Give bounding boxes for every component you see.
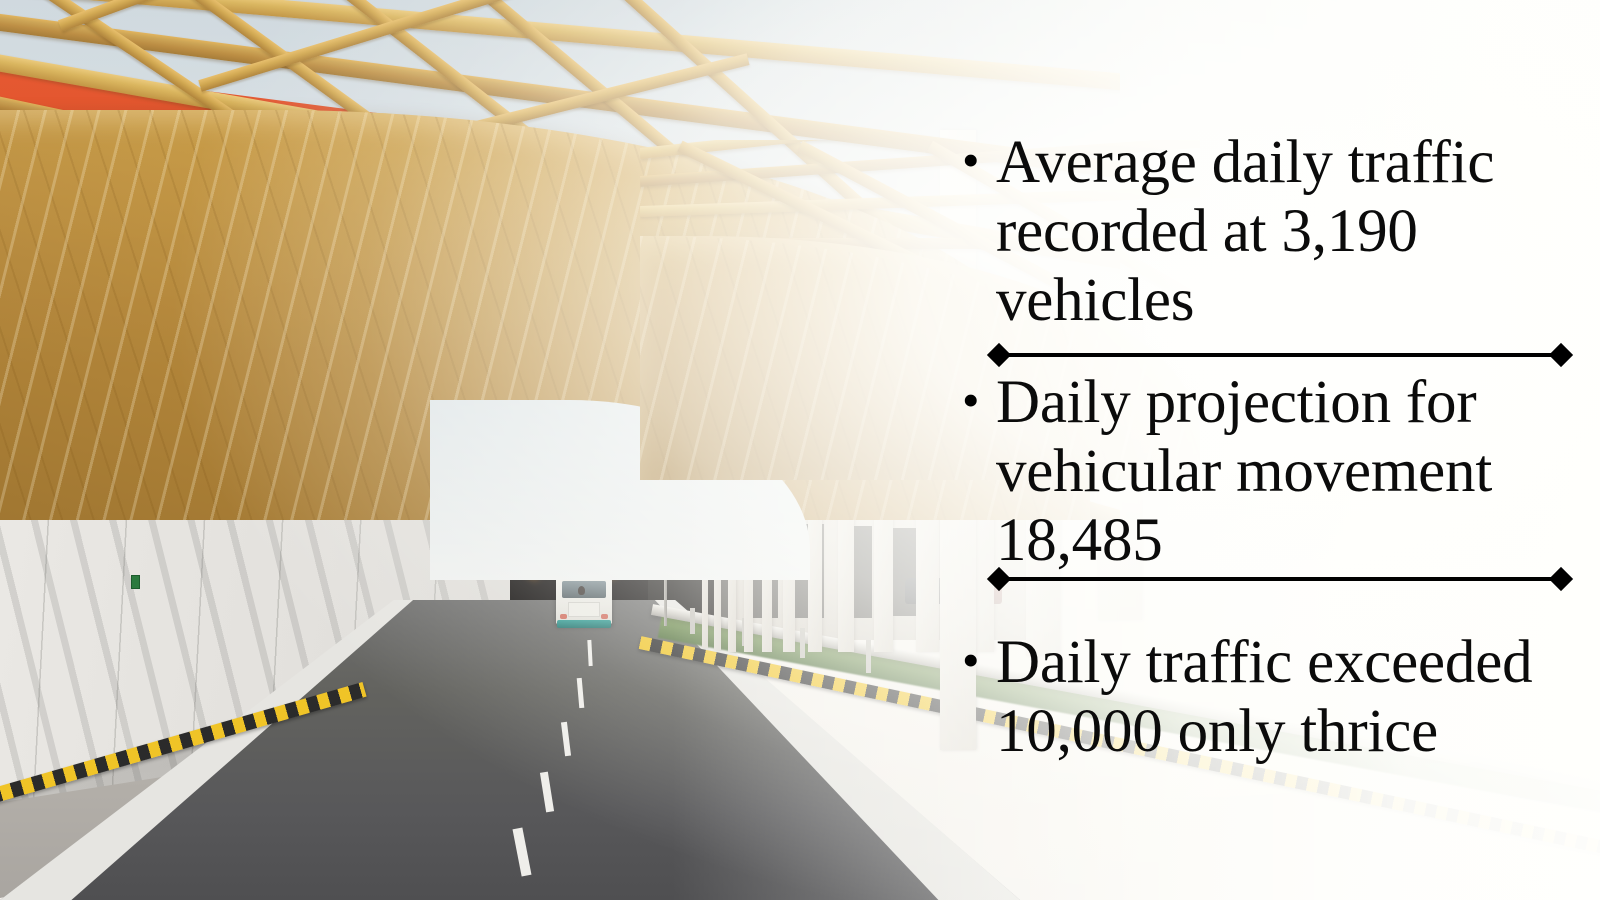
slide-canvas: বঙ্গবন্ধু শেখ মুজিবুর রহমান টানেল BANGAB… [0,0,1600,900]
bullet-text-2: Daily projection for vehicular movement … [996,368,1532,576]
divider-rule-1 [988,344,1572,366]
divider-bar [1004,577,1556,581]
bullet-item-2: • Daily projection for vehicular movemen… [962,368,1532,576]
bullet-marker-icon: • [962,628,996,692]
diamond-endpoint-right-icon [1549,567,1573,591]
diamond-endpoint-right-icon [1549,343,1573,367]
bullet-item-3: • Daily traffic exceeded 10,000 only thr… [962,628,1562,766]
bullet-text-3: Daily traffic exceeded 10,000 only thric… [996,628,1562,766]
text-overlay: • Average daily traffic recorded at 3,19… [0,0,1600,900]
bullet-text-1: Average daily traffic recorded at 3,190 … [996,128,1532,336]
bullet-item-1: • Average daily traffic recorded at 3,19… [962,128,1532,336]
divider-bar [1004,353,1556,357]
divider-rule-2 [988,568,1572,590]
bullet-marker-icon: • [962,128,996,192]
bullet-marker-icon: • [962,368,996,432]
